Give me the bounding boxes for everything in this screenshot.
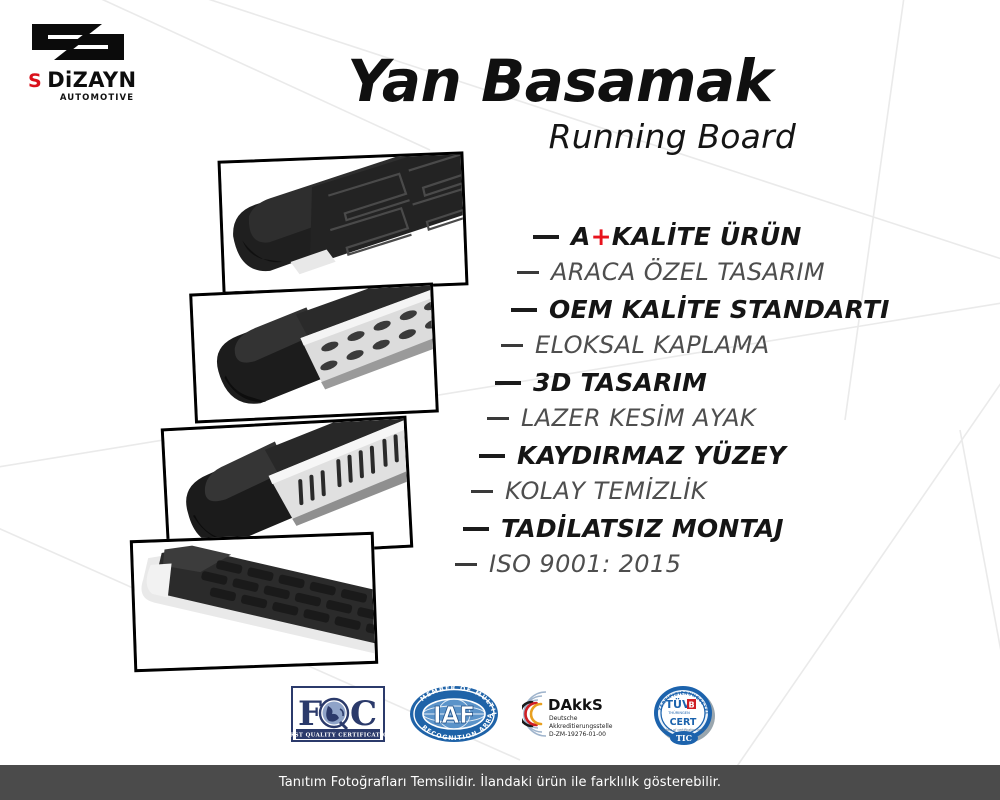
cert-dakks-title: DAkkS [548,696,603,714]
feature-item-lazer-kesim-ayak: LAZER KESİM AYAK [487,404,925,432]
svg-text:IAF: IAF [433,703,475,729]
cert-fqc-caption: FIRST QUALITY CERTIFICATION [290,733,386,739]
feature-label: OEM KALİTE STANDARTI [549,295,890,324]
bullet-dash-icon [471,490,493,493]
bullet-dash-icon [495,381,521,385]
feature-label: 3D TASARIM [533,368,707,397]
brand-word-main: DiZAYN [47,68,136,92]
feature-label: KAYDIRMAZ YÜZEY [517,441,786,470]
certification-logos: F C FIRST QUALITY CERTIFICATION [290,684,720,748]
brand-word-sub: AUTOMOTIVE [32,93,162,103]
feature-item-kolay-temizlik: KOLAY TEMİZLİK [471,477,925,505]
bullet-dash-icon [517,271,539,274]
cert-dakks-line1: Deutsche [549,715,578,722]
bullet-dash-icon [487,417,509,420]
cert-logo-tuv-cert: ZERTIFIZIERUNGSSTELLE TÜV B THÜRINGEN CE… [648,683,720,749]
feature-item-kaydirmaz-yuzey: KAYDIRMAZ YÜZEY [479,441,925,470]
cert-tuv-bottom-mark: TIC [676,733,692,743]
product-photo-silver-oval-holes [189,283,439,424]
poster-canvas: S DiZAYN AUTOMOTIVE Yan Basamak Running … [0,0,1000,800]
brand-wordmark: S DiZAYN [28,68,156,92]
brand-word-s: S [28,70,41,92]
product-photo-black-maze-tread [218,151,469,294]
feature-label: KOLAY TEMİZLİK [505,477,707,505]
feature-item-a-plus-kalite-urun: A+KALİTE ÜRÜN [533,222,925,251]
brand-logo: S DiZAYN AUTOMOTIVE [26,18,156,90]
disclaimer-text: Tanıtım Fotoğrafları Temsilidir. İlandak… [279,775,721,790]
disclaimer-bar: Tanıtım Fotoğrafları Temsilidir. İlandak… [0,765,1000,800]
feature-label: LAZER KESİM AYAK [521,404,756,432]
cert-dakks-line3: D-ZM-19276-01-00 [549,731,606,738]
feature-item-iso-9001: ISO 9001: 2015 [455,550,925,578]
cert-logo-dakks: DAkkS Deutsche Akkreditierungsstelle D-Z… [522,686,626,746]
svg-text:F: F [298,694,322,734]
svg-text:C: C [350,694,377,734]
feature-label: ARACA ÖZEL TASARIM [551,258,825,286]
page-title: Yan Basamak [300,52,820,111]
feature-item-tadilatsiz-montaj: TADİLATSIZ MONTAJ [463,514,925,543]
feature-item-oem-kalite-standarti: OEM KALİTE STANDARTI [511,295,925,324]
bullet-dash-icon [511,308,537,312]
feature-item-eloksal-kaplama: ELOKSAL KAPLAMA [501,331,925,359]
cert-tuv-region: THÜRINGEN [667,710,690,715]
bullet-dash-icon [463,527,489,531]
svg-text:B: B [688,701,694,710]
bullet-dash-icon [455,563,477,566]
feature-item-3d-tasarim: 3D TASARIM [495,368,925,397]
feature-label: TADİLATSIZ MONTAJ [501,514,784,543]
feature-list: A+KALİTE ÜRÜN ARACA ÖZEL TASARIM OEM KAL… [455,222,925,578]
feature-label: ELOKSAL KAPLAMA [535,331,770,359]
page-subtitle: Running Board [300,117,820,156]
feature-label: A+KALİTE ÜRÜN [571,222,801,251]
feature-label: ISO 9001: 2015 [489,550,681,578]
bullet-dash-icon [479,454,505,458]
bullet-dash-icon [501,344,523,347]
bullet-dash-icon [533,235,559,239]
cert-tuv-label: CERT [670,717,697,728]
feature-item-araca-ozel-tasarim: ARACA ÖZEL TASARIM [517,258,925,286]
cert-logo-iaf: IAF MEMBER OF MULTILATERAL RECOGNITION A… [408,684,500,748]
accent-plus: + [591,222,612,251]
s-monogram-icon [26,18,130,66]
product-photo-black-brick-tread [130,532,378,672]
cert-logo-fqc: F C FIRST QUALITY CERTIFICATION [290,685,386,747]
cert-dakks-line2: Akkreditierungsstelle [549,723,613,730]
title-block: Yan Basamak Running Board [300,52,820,156]
